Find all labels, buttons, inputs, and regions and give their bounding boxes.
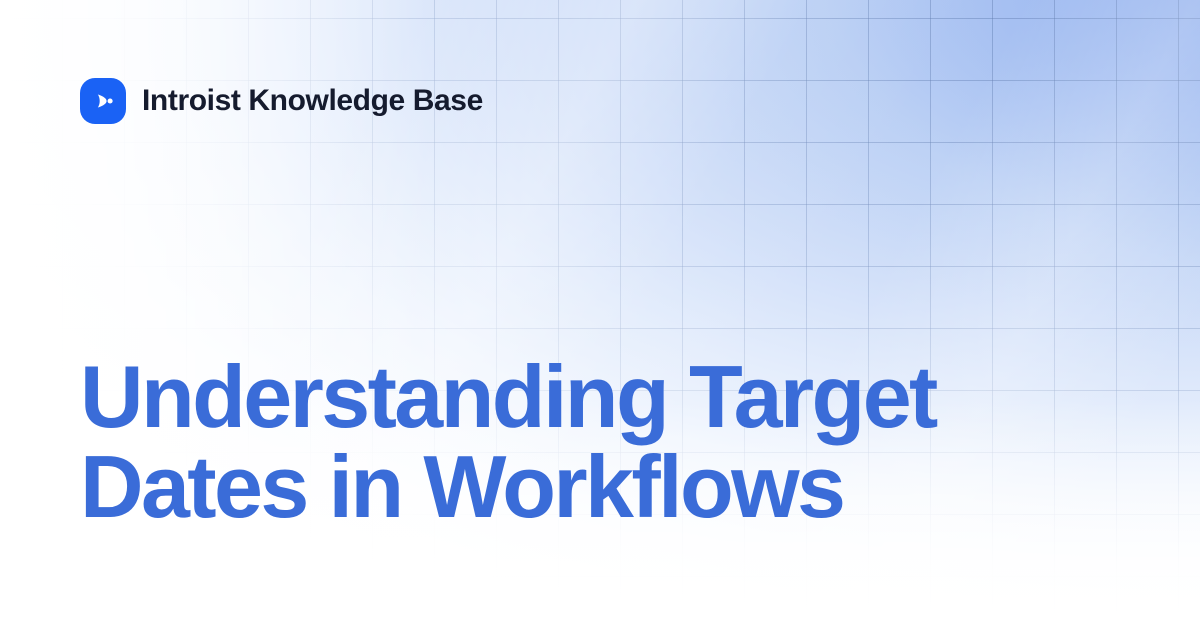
brand-lockup: Introist Knowledge Base	[80, 78, 483, 124]
page-title: Understanding Target Dates in Workflows	[80, 352, 1090, 532]
card-content: Introist Knowledge Base Understanding Ta…	[0, 0, 1200, 630]
brand-name-label: Introist Knowledge Base	[142, 84, 483, 118]
page-title-line-2: Dates in Workflows	[80, 442, 1090, 532]
page-title-line-1: Understanding Target	[80, 352, 1090, 442]
introist-logo-icon	[80, 78, 126, 124]
social-card: Introist Knowledge Base Understanding Ta…	[0, 0, 1200, 630]
